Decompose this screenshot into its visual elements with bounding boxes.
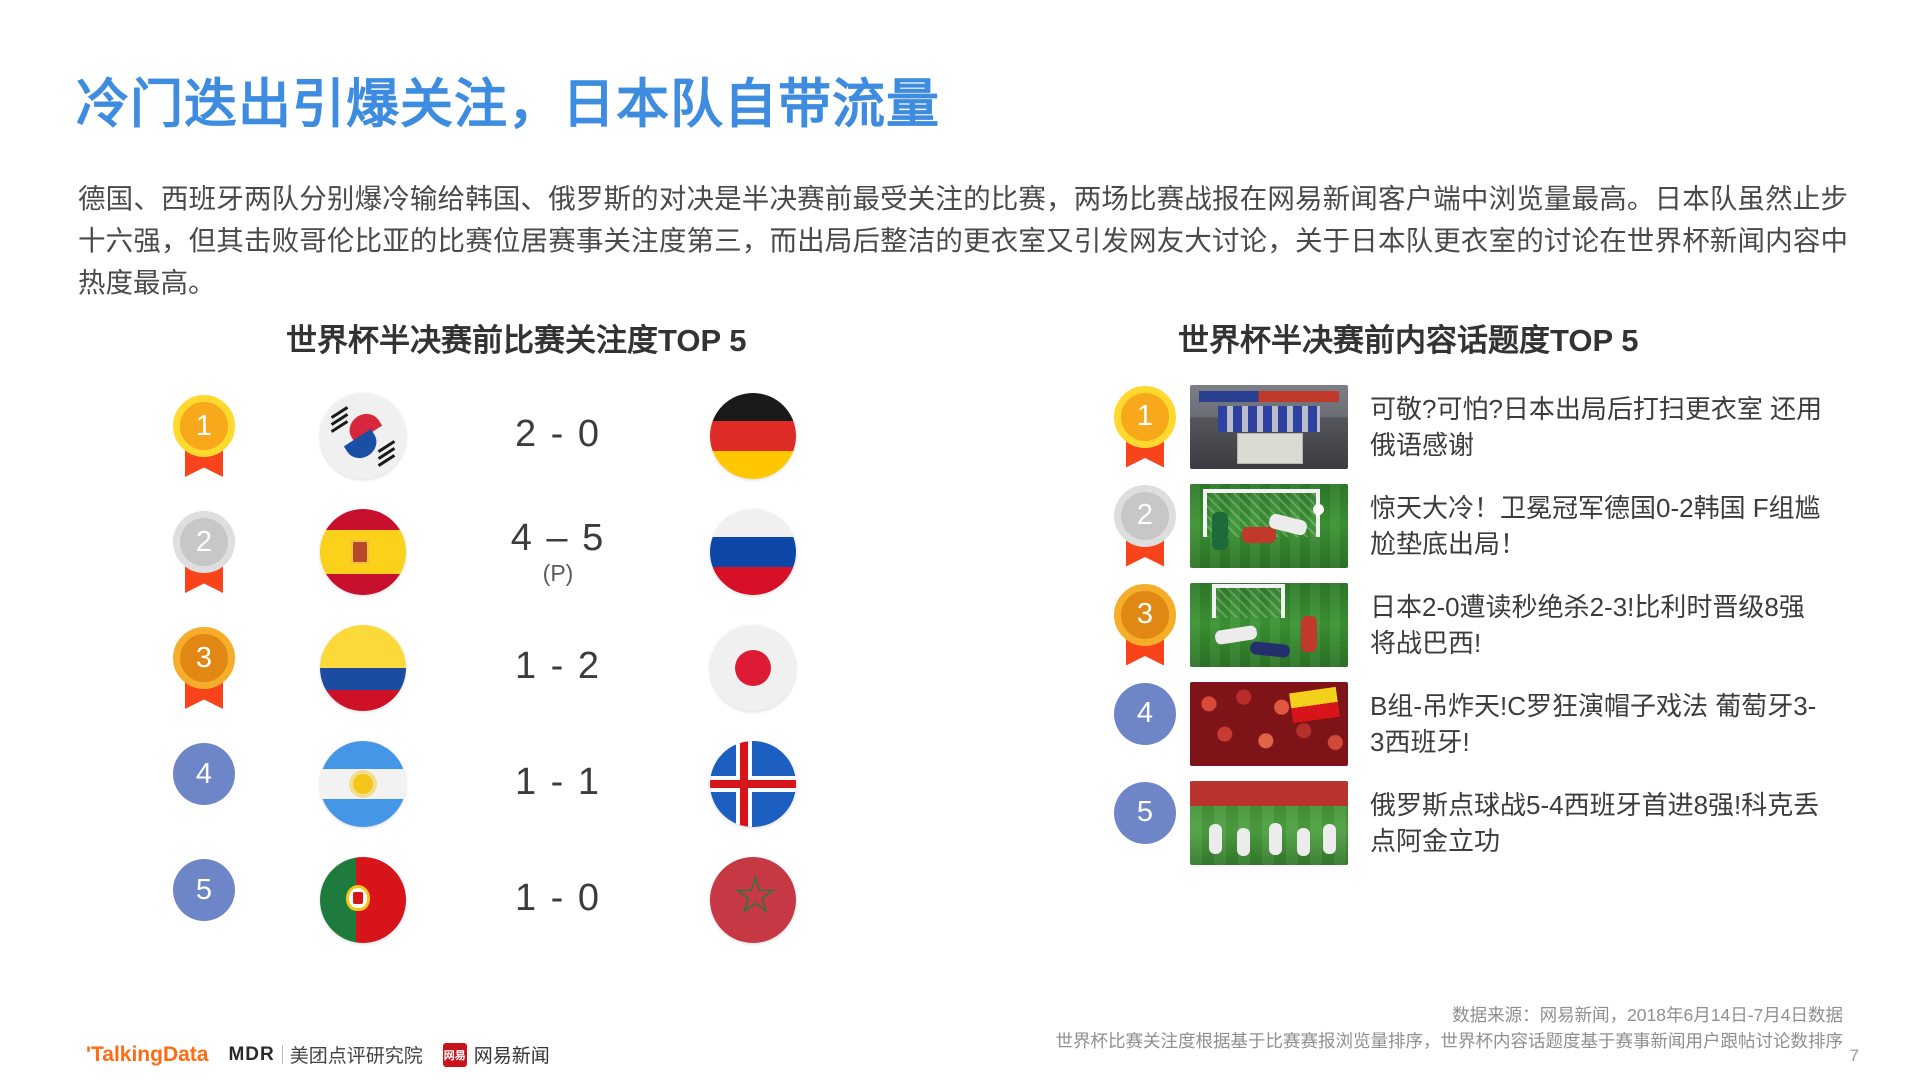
right-section-title: 世界杯半决赛前内容话题度TOP 5: [1178, 315, 1638, 360]
rank-number: 5: [1114, 782, 1176, 844]
flag-japan-icon: [710, 625, 796, 711]
medal-silver-icon: 2: [173, 511, 235, 593]
team-a-flag-cell: [268, 625, 458, 711]
rank-cell: 5: [1100, 782, 1190, 864]
medal-gold-icon: 1: [1114, 386, 1176, 468]
flag-colombia-icon: [320, 625, 406, 711]
table-row[interactable]: 2 4 – 5 (P): [140, 494, 900, 610]
source-line-2: 世界杯比赛关注度根据基于比赛赛报浏览量排序，世界杯内容话题度基于赛事新闻用户跟帖…: [1056, 1028, 1844, 1054]
medal-bronze-icon: 3: [173, 627, 235, 709]
flag-russia-icon: [710, 509, 796, 595]
team-a-flag-cell: [268, 741, 458, 827]
score-value: 1 - 1: [515, 761, 601, 803]
rank-badge-5: 5: [173, 859, 235, 941]
flag-morocco-icon: [710, 857, 796, 943]
intro-paragraph: 德国、西班牙两队分别爆冷输给韩国、俄罗斯的对决是半决赛前最受关注的比赛，两场比赛…: [78, 178, 1848, 304]
news-thumbnail-locker-room[interactable]: [1190, 385, 1348, 469]
rank-cell: 3: [140, 627, 268, 709]
rank-number: 2: [1114, 485, 1176, 547]
list-item[interactable]: 2 惊天大冷！卫冕冠军德国0-2韩国 F组尴尬垫底出局！: [1100, 477, 1830, 574]
logo-divider: [282, 1045, 283, 1064]
match-ranking-list: 1 2 - 0: [140, 378, 900, 958]
score-cell: 1 - 2: [458, 647, 658, 689]
list-item[interactable]: 3 日本2-0遭读秒绝杀2-3!比利时晋级8强将战巴西!: [1100, 576, 1830, 673]
flag-south-korea-icon: [320, 393, 406, 479]
news-thumbnail-players-ground[interactable]: [1190, 583, 1348, 667]
score-value: 4 – 5: [511, 517, 606, 559]
rank-number: 1: [1114, 386, 1176, 448]
flag-spain-icon: [320, 509, 406, 595]
score-value: 1 - 0: [515, 877, 601, 919]
left-section-title: 世界杯半决赛前比赛关注度TOP 5: [286, 315, 746, 360]
rank-badge-4: 4: [173, 743, 235, 825]
mdr-name: 美团点评研究院: [290, 1041, 423, 1068]
mdr-mark: MDR: [228, 1044, 274, 1066]
source-line-1: 数据来源：网易新闻，2018年6月14日-7月4日数据: [1056, 1002, 1844, 1028]
score-note: (P): [458, 561, 658, 585]
table-row[interactable]: 5 1 - 0: [140, 842, 900, 958]
logo-netease-news: 网易 网易新闻: [443, 1041, 550, 1068]
rank-number: 1: [173, 395, 235, 457]
score-cell: 4 – 5 (P): [458, 519, 658, 585]
team-b-flag-cell: [658, 741, 848, 827]
logo-meituan-research: MDR 美团点评研究院: [228, 1041, 422, 1068]
flag-argentina-icon: [320, 741, 406, 827]
score-value: 2 - 0: [515, 413, 601, 455]
score-value: 1 - 2: [515, 645, 601, 687]
score-cell: 2 - 0: [458, 415, 658, 457]
score-cell: 1 - 0: [458, 879, 658, 921]
source-note: 数据来源：网易新闻，2018年6月14日-7月4日数据 世界杯比赛关注度根据基于…: [1056, 1002, 1844, 1054]
table-row[interactable]: 3 1 - 2: [140, 610, 900, 726]
rank-cell: 1: [1100, 386, 1190, 468]
news-ranking-list: 1 可敬?可怕?日本出局后打扫更衣室 还用俄语感谢 2: [1100, 378, 1830, 873]
news-headline[interactable]: 俄罗斯点球战5-4西班牙首进8强!科克丢点阿金立功: [1370, 787, 1830, 859]
team-a-flag-cell: [268, 393, 458, 479]
news-thumbnail-celebration[interactable]: [1190, 781, 1348, 865]
list-item[interactable]: 1 可敬?可怕?日本出局后打扫更衣室 还用俄语感谢: [1100, 378, 1830, 475]
list-item[interactable]: 5 俄罗斯点球战5-4西班牙首进8强!科克丢点阿金立功: [1100, 774, 1830, 871]
netease-mark-icon: 网易: [443, 1043, 467, 1067]
team-b-flag-cell: [658, 509, 848, 595]
medal-silver-icon: 2: [1114, 485, 1176, 567]
rank-number: 4: [1114, 683, 1176, 745]
flag-germany-icon: [710, 393, 796, 479]
news-headline[interactable]: 日本2-0遭读秒绝杀2-3!比利时晋级8强将战巴西!: [1370, 589, 1830, 661]
slide-root: 冷门迭出引爆关注，日本队自带流量 德国、西班牙两队分别爆冷输给韩国、俄罗斯的对决…: [0, 0, 1921, 1080]
medal-gold-icon: 1: [173, 395, 235, 477]
rank-cell: 5: [140, 859, 268, 941]
rank-cell: 3: [1100, 584, 1190, 666]
news-thumbnail-crowd[interactable]: [1190, 682, 1348, 766]
score-cell: 1 - 1: [458, 763, 658, 805]
rank-number: 3: [1114, 584, 1176, 646]
rank-cell: 4: [1100, 683, 1190, 765]
rank-number: 5: [173, 859, 235, 921]
rank-cell: 4: [140, 743, 268, 825]
team-a-flag-cell: [268, 509, 458, 595]
team-b-flag-cell: [658, 857, 848, 943]
rank-cell: 2: [1100, 485, 1190, 567]
rank-cell: 1: [140, 395, 268, 477]
rank-number: 2: [173, 511, 235, 573]
rank-badge-5: 5: [1114, 782, 1176, 864]
table-row[interactable]: 4 1 - 1: [140, 726, 900, 842]
rank-number: 4: [173, 743, 235, 805]
news-thumbnail-goal-save[interactable]: [1190, 484, 1348, 568]
flag-iceland-icon: [710, 741, 796, 827]
rank-badge-4: 4: [1114, 683, 1176, 765]
table-row[interactable]: 1 2 - 0: [140, 378, 900, 494]
team-a-flag-cell: [268, 857, 458, 943]
team-b-flag-cell: [658, 625, 848, 711]
page-number: 7: [1850, 1046, 1859, 1066]
page-title: 冷门迭出引爆关注，日本队自带流量: [76, 62, 940, 138]
flag-portugal-icon: [320, 857, 406, 943]
footer-logos: 'TalkingData MDR 美团点评研究院 网易 网易新闻: [86, 1041, 550, 1068]
news-headline[interactable]: 可敬?可怕?日本出局后打扫更衣室 还用俄语感谢: [1370, 391, 1830, 463]
rank-number: 3: [173, 627, 235, 689]
news-headline[interactable]: B组-吊炸天!C罗狂演帽子戏法 葡萄牙3-3西班牙!: [1370, 688, 1830, 760]
medal-bronze-icon: 3: [1114, 584, 1176, 666]
list-item[interactable]: 4 B组-吊炸天!C罗狂演帽子戏法 葡萄牙3-3西班牙!: [1100, 675, 1830, 772]
netease-name: 网易新闻: [474, 1041, 550, 1068]
team-b-flag-cell: [658, 393, 848, 479]
logo-talkingdata: 'TalkingData: [86, 1043, 208, 1067]
rank-cell: 2: [140, 511, 268, 593]
news-headline[interactable]: 惊天大冷！卫冕冠军德国0-2韩国 F组尴尬垫底出局！: [1370, 490, 1830, 562]
